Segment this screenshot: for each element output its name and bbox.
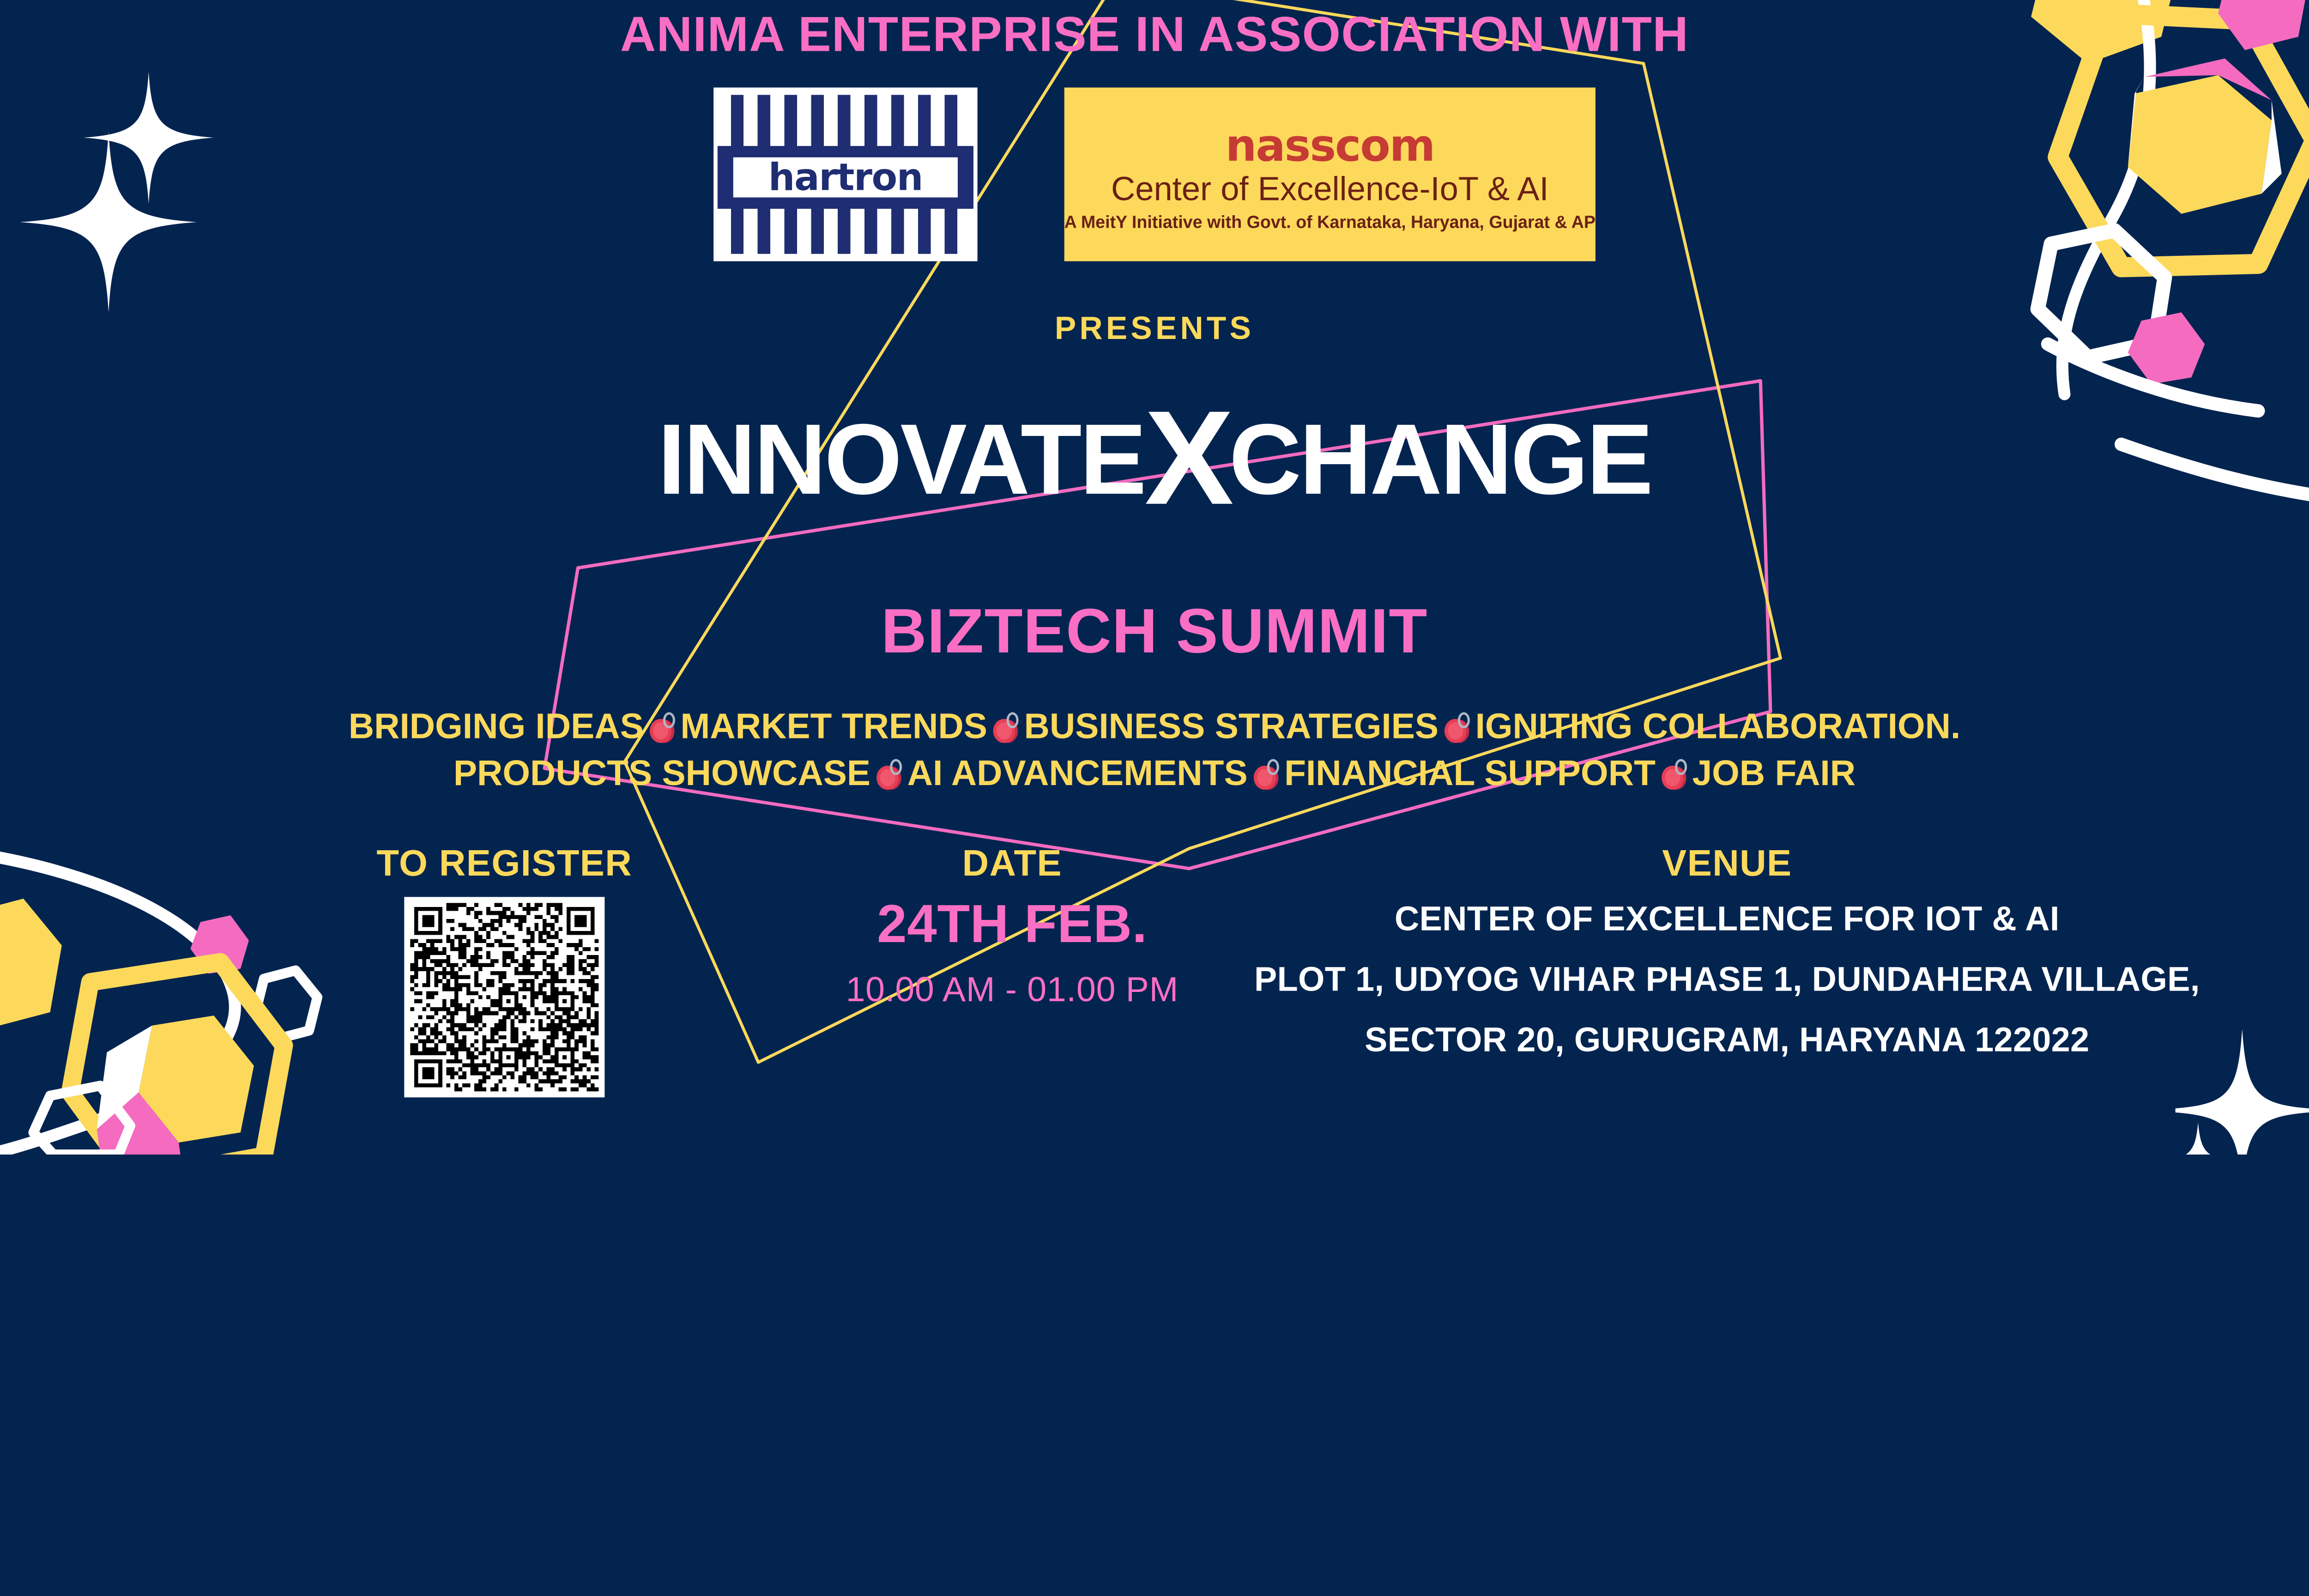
hartron-band: hartron (718, 146, 973, 209)
association-line: ANIMA ENTERPRISE IN ASSOCIATION WITH (0, 6, 2309, 63)
feature-list: BRIDGING IDEASMARKET TRENDSBUSINESS STRA… (0, 703, 2309, 797)
yoyo-icon (876, 759, 902, 791)
title-x-letter: X (1145, 383, 1229, 532)
qr-code-image[interactable] (410, 903, 598, 1091)
yoyo-icon (649, 712, 675, 744)
register-heading: TO REGISTER (254, 842, 755, 884)
title-part-one: INNOVATE (658, 403, 1144, 515)
venue-column: VENUE CENTER OF EXCELLENCE FOR IOT & AI … (1243, 842, 2212, 1066)
feature-item: BUSINESS STRATEGIES (1024, 707, 1439, 746)
hartron-wordmark: hartron (768, 159, 923, 196)
venue-line-1: CENTER OF EXCELLENCE FOR IOT & AI (1243, 893, 2212, 945)
feature-line-2: PRODUCTS SHOWCASEAI ADVANCEMENTSFINANCIA… (0, 750, 2309, 797)
hartron-logo: hartron (713, 88, 977, 261)
venue-line-3: SECTOR 20, GURUGRAM, HARYANA 122022 (1243, 1014, 2212, 1066)
feature-item: MARKET TRENDS (680, 707, 987, 746)
feature-item: FINANCIAL SUPPORT (1284, 753, 1656, 792)
yoyo-icon (1444, 712, 1470, 744)
register-column: TO REGISTER (254, 842, 755, 1097)
feature-item: IGNITING COLLABORATION. (1475, 707, 1961, 746)
venue-line-2: PLOT 1, UDYOG VIHAR PHASE 1, DUNDAHERA V… (1243, 954, 2212, 1005)
nasscom-logo: nasscom Center of Excellence-IoT & AI A … (1064, 88, 1596, 261)
feature-item: PRODUCTS SHOWCASE (453, 753, 870, 792)
logo-row: hartron nasscom Center of Excellence-IoT… (0, 88, 2309, 261)
nasscom-wordmark: nasscom (1225, 123, 1434, 167)
nasscom-initiative: A MeitY Initiative with Govt. of Karnata… (1064, 212, 1596, 232)
yoyo-icon (992, 712, 1018, 744)
feature-item: AI ADVANCEMENTS (907, 753, 1248, 792)
date-column: DATE 24TH FEB. 10.00 AM - 01.00 PM (788, 842, 1236, 1010)
feature-item: BRIDGING IDEAS (349, 707, 644, 746)
hartron-band-inner: hartron (733, 157, 958, 198)
page-subtitle: BIZTECH SUMMIT (0, 595, 2309, 667)
registration-qr-code[interactable] (404, 897, 604, 1097)
time-value: 10.00 AM - 01.00 PM (788, 970, 1236, 1010)
date-heading: DATE (788, 842, 1236, 884)
date-value: 24TH FEB. (788, 893, 1236, 955)
yoyo-icon (1253, 759, 1279, 791)
nasscom-center-name: Center of Excellence-IoT & AI (1111, 169, 1549, 208)
presents-label: PRESENTS (0, 310, 2309, 347)
feature-line-1: BRIDGING IDEASMARKET TRENDSBUSINESS STRA… (0, 703, 2309, 750)
title-part-two: CHANGE (1229, 403, 1651, 515)
venue-heading: VENUE (1243, 842, 2212, 884)
event-poster: ANIMA ENTERPRISE IN ASSOCIATION WITH har… (0, 0, 2309, 1155)
bottom-info-row: TO REGISTER DATE 24TH FEB. 10.00 AM - 01… (0, 842, 2309, 1155)
page-title: INNOVATEXCHANGE (0, 381, 2309, 514)
feature-item: JOB FAIR (1692, 753, 1856, 792)
yoyo-icon (1661, 759, 1686, 791)
